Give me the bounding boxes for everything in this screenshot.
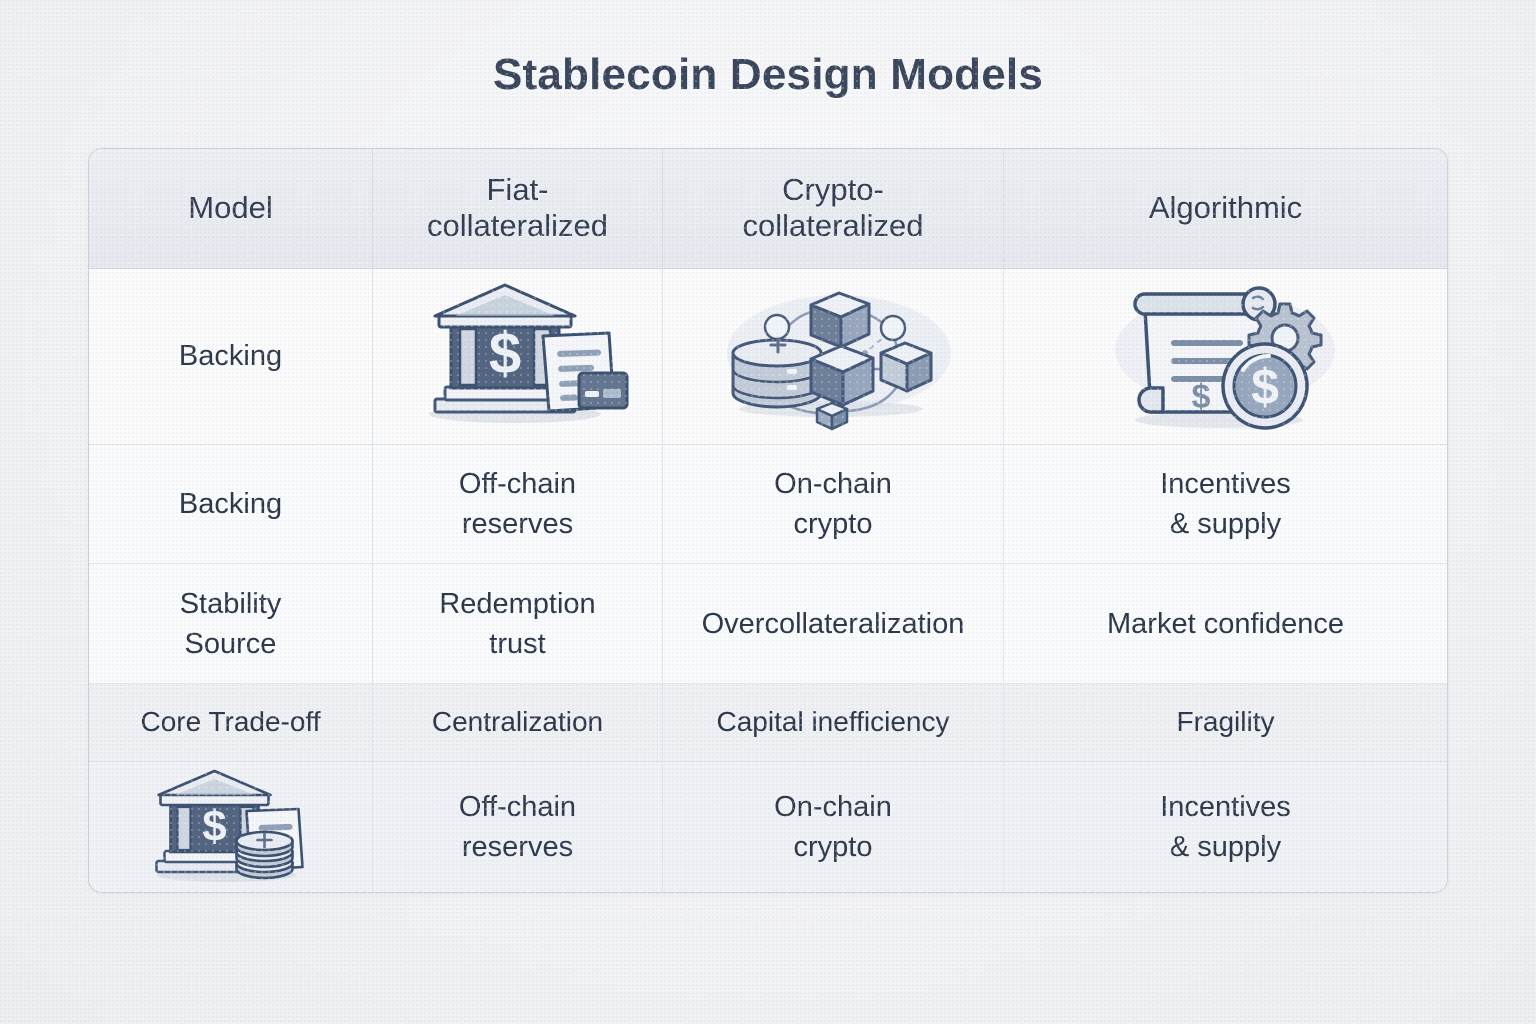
cell-algorithmic-value: Fragility [1004,684,1447,761]
table-row: Core Trade-off Centralization Capital in… [89,684,1447,762]
cell-algorithmic-value: Incentives & supply [1004,445,1447,564]
svg-text:$: $ [1251,359,1279,415]
cell-algorithmic-value: Incentives & supply [1004,762,1447,892]
cell-text: Overcollateralization [702,604,965,644]
column-header-model: Model [89,149,373,268]
row-label-text: Core Trade-off [140,703,320,742]
cell-text: Fragility [1176,703,1274,742]
table-row: Backing Off-chain reserves On-chain cryp… [89,445,1447,565]
row-label: Stability Source [89,564,373,683]
column-header-fiat: Fiat- collateralized [373,149,663,268]
blockchain-network-database-icon [699,281,967,431]
cell-text: Off-chain reserves [459,464,576,544]
row-label-backing-icons: Backing [89,269,373,444]
cell-text: Market confidence [1107,604,1344,644]
column-header-crypto-label: Crypto- collateralized [743,172,924,245]
cell-crypto-icon [663,269,1004,444]
cell-text: Off-chain reserves [459,787,576,867]
cell-crypto-value: Capital inefficiency [663,684,1004,761]
row-label: Backing [89,445,373,564]
cell-text: Capital inefficiency [717,703,950,742]
svg-text:$: $ [1191,378,1210,416]
bank-dollar-document-card-icon: $ [403,281,633,431]
column-header-algorithmic-label: Algorithmic [1149,190,1302,227]
column-header-crypto: Crypto- collateralized [663,149,1004,268]
row-label: Core Trade-off [89,684,373,761]
cell-algorithmic-value: Market confidence [1004,564,1447,683]
svg-text:$: $ [488,321,520,386]
table-header-row: Model Fiat- collateralized Crypto- colla… [89,149,1447,269]
page-title: Stablecoin Design Models [0,50,1536,100]
cell-crypto-value: Overcollateralization [663,564,1004,683]
cell-fiat-value: Redemption trust [373,564,663,683]
cell-fiat-value: Centralization [373,684,663,761]
cell-crypto-value: On-chain crypto [663,762,1004,892]
cell-text: Incentives & supply [1160,787,1291,867]
cell-fiat-icon: $ [373,269,663,444]
bank-dollar-coins-document-icon: $ [138,769,323,885]
page-background: Stablecoin Design Models Model Fiat- col… [0,0,1536,1024]
column-header-model-label: Model [188,190,272,227]
table-row: $ [89,762,1447,892]
cell-fiat-value: Off-chain reserves [373,445,663,564]
cell-text: On-chain crypto [774,787,892,867]
table-row: Stability Source Redemption trust Overco… [89,564,1447,684]
comparison-table: Model Fiat- collateralized Crypto- colla… [88,148,1448,893]
cell-text: On-chain crypto [774,464,892,544]
cell-fiat-value: Off-chain reserves [373,762,663,892]
column-header-algorithmic: Algorithmic [1004,149,1447,268]
cell-bank-coins-icon: $ [89,762,373,892]
cell-text: Incentives & supply [1160,464,1291,544]
svg-text:$: $ [202,802,226,851]
cell-text: Centralization [432,703,603,742]
cell-crypto-value: On-chain crypto [663,445,1004,564]
cell-text: Redemption trust [439,584,595,664]
row-label-text: Stability Source [180,584,282,664]
row-label-text: Backing [179,484,282,524]
row-label-text: Backing [179,340,282,373]
column-header-fiat-label: Fiat- collateralized [427,172,608,245]
cell-algorithmic-icon: $ $ [1004,269,1447,444]
table-row: Backing [89,269,1447,445]
contract-scroll-gear-coin-icon: $ $ [1101,280,1351,432]
